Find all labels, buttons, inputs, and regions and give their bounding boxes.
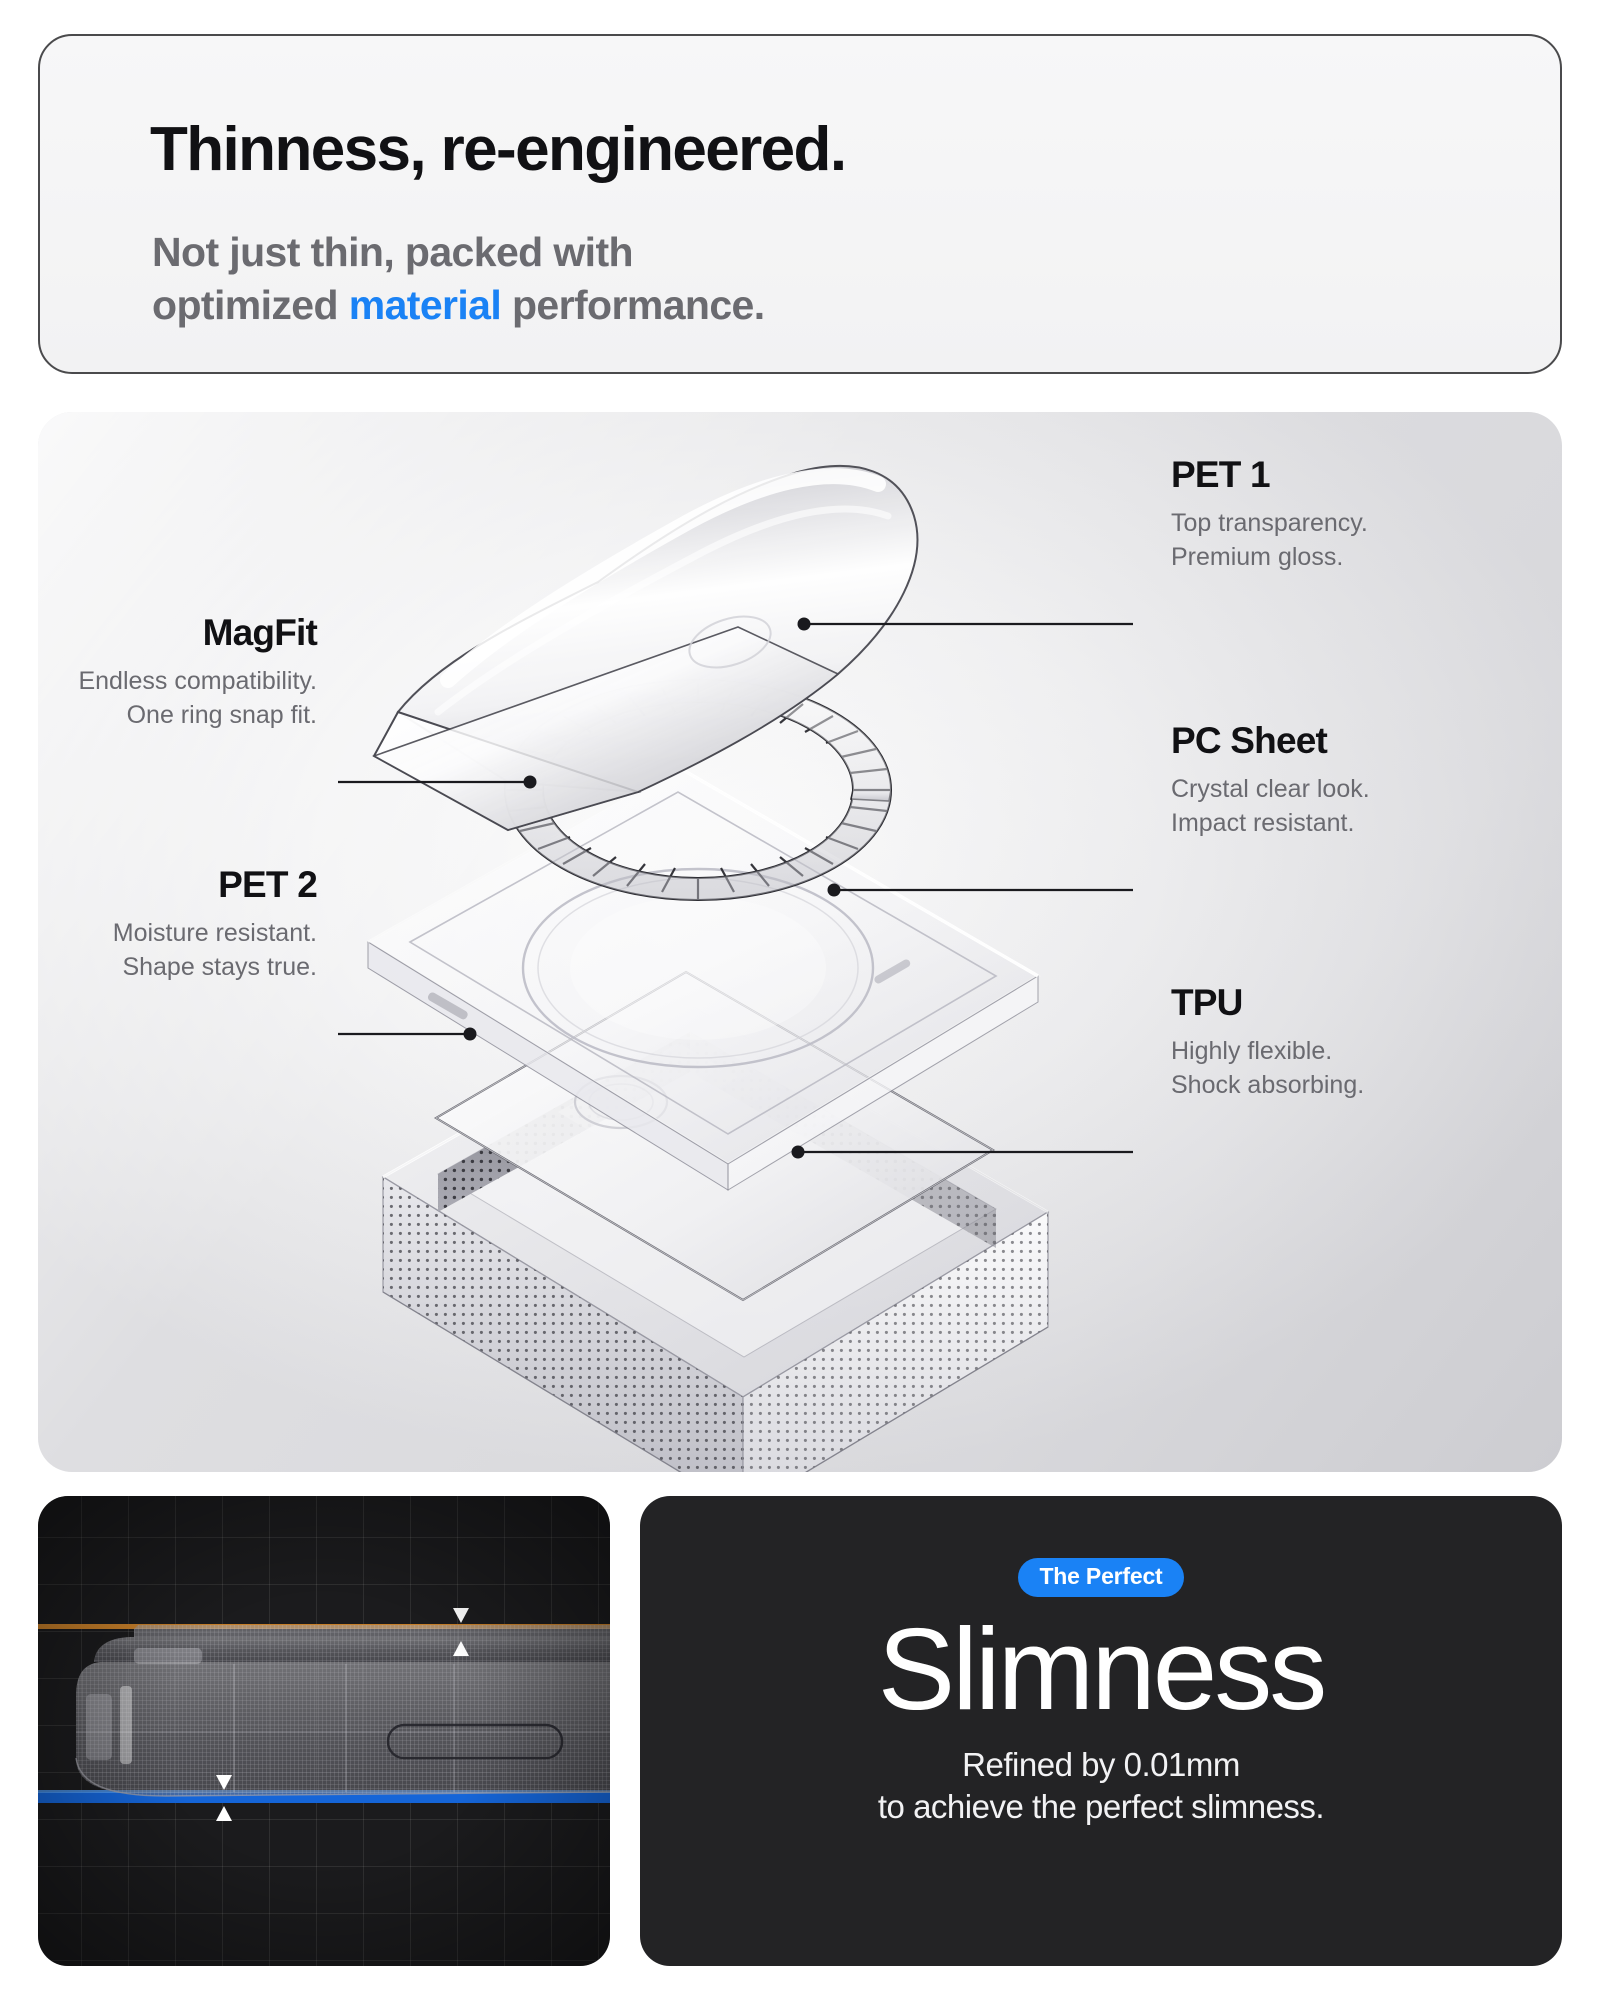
callout-magfit-desc-1: Endless compatibility. <box>78 665 317 699</box>
callout-pet2-title: PET 2 <box>113 866 317 903</box>
exploded-layers-diagram: PET 1 Top transparency. Premium gloss. M… <box>38 412 1562 1472</box>
callout-pc-sheet-desc: Crystal clear look. Impact resistant. <box>1171 773 1370 840</box>
subtitle-suffix: performance. <box>501 282 764 328</box>
product-infographic: Thinness, re-engineered. Not just thin, … <box>0 0 1600 2000</box>
subtitle-prefix: optimized <box>152 282 349 328</box>
slimness-subtext-line-2: to achieve the perfect slimness. <box>878 1786 1324 1828</box>
callout-pet1-desc-1: Top transparency. <box>1171 507 1368 541</box>
callout-pet1-desc-2: Premium gloss. <box>1171 541 1368 575</box>
callout-pc-sheet: PC Sheet Crystal clear look. Impact resi… <box>1171 722 1370 840</box>
callout-pet2-desc-2: Shape stays true. <box>113 951 317 985</box>
pet1-layer-art <box>374 466 917 830</box>
slimness-subtext-line-1: Refined by 0.01mm <box>878 1744 1324 1786</box>
page-title: Thinness, re-engineered. <box>150 114 845 185</box>
callout-pet2-desc: Moisture resistant. Shape stays true. <box>113 917 317 984</box>
callout-tpu-desc: Highly flexible. Shock absorbing. <box>1171 1035 1364 1102</box>
cross-section-card <box>38 1496 610 1966</box>
callout-magfit: MagFit Endless compatibility. One ring s… <box>78 614 317 732</box>
page-subtitle: Not just thin, packed with optimized mat… <box>152 226 765 333</box>
slimness-headline: Slimness <box>878 1607 1325 1732</box>
cross-section-vignette <box>38 1496 610 1966</box>
callout-pet2: PET 2 Moisture resistant. Shape stays tr… <box>113 866 317 984</box>
header-card: Thinness, re-engineered. Not just thin, … <box>38 34 1562 374</box>
callout-tpu-desc-1: Highly flexible. <box>1171 1035 1364 1069</box>
callout-tpu-desc-2: Shock absorbing. <box>1171 1069 1364 1103</box>
slimness-subtext: Refined by 0.01mm to achieve the perfect… <box>878 1744 1324 1827</box>
status-badge: The Perfect <box>1018 1558 1183 1597</box>
callout-pet1-desc: Top transparency. Premium gloss. <box>1171 507 1368 574</box>
callout-pc-sheet-desc-1: Crystal clear look. <box>1171 773 1370 807</box>
callout-pet1-title: PET 1 <box>1171 456 1368 493</box>
callout-pc-sheet-desc-2: Impact resistant. <box>1171 807 1370 841</box>
callout-magfit-desc: Endless compatibility. One ring snap fit… <box>78 665 317 732</box>
callout-pet2-desc-1: Moisture resistant. <box>113 917 317 951</box>
slimness-content: The Perfect Slimness Refined by 0.01mm t… <box>640 1558 1562 1827</box>
subtitle-line-2: optimized material performance. <box>152 279 765 332</box>
subtitle-accent-word: material <box>349 282 501 328</box>
slimness-card: The Perfect Slimness Refined by 0.01mm t… <box>640 1496 1562 1966</box>
subtitle-line-1: Not just thin, packed with <box>152 226 765 279</box>
callout-pet1: PET 1 Top transparency. Premium gloss. <box>1171 456 1368 574</box>
callout-magfit-title: MagFit <box>78 614 317 651</box>
callout-tpu-title: TPU <box>1171 984 1364 1021</box>
callout-tpu: TPU Highly flexible. Shock absorbing. <box>1171 984 1364 1102</box>
callout-pc-sheet-title: PC Sheet <box>1171 722 1370 759</box>
callout-magfit-desc-2: One ring snap fit. <box>78 699 317 733</box>
